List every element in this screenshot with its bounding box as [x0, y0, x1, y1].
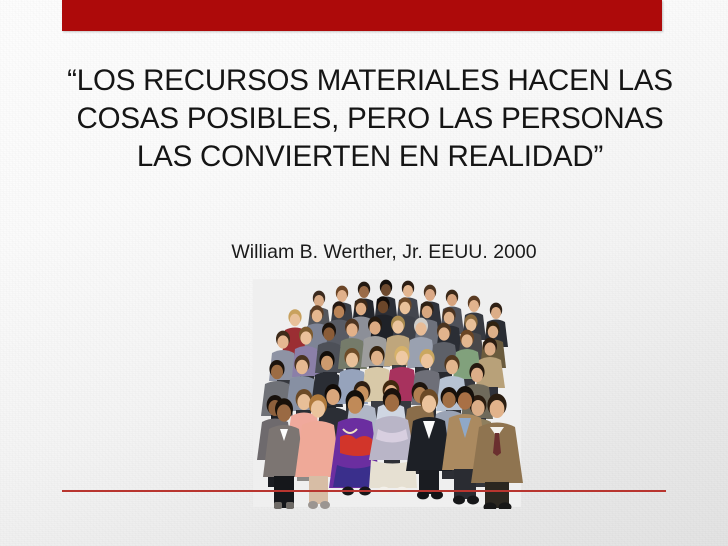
- slide-quote-headline: “LOS RECURSOS MATERIALES HACEN LAS COSAS…: [52, 62, 688, 176]
- bottom-red-rule: [62, 490, 666, 492]
- top-red-banner: [62, 0, 662, 31]
- group-photo-illustration: [247, 277, 528, 509]
- quote-attribution: William B. Werther, Jr. EEUU. 2000: [52, 239, 688, 265]
- group-of-business-people-photo: [247, 277, 528, 509]
- presentation-slide: “LOS RECURSOS MATERIALES HACEN LAS COSAS…: [0, 0, 728, 546]
